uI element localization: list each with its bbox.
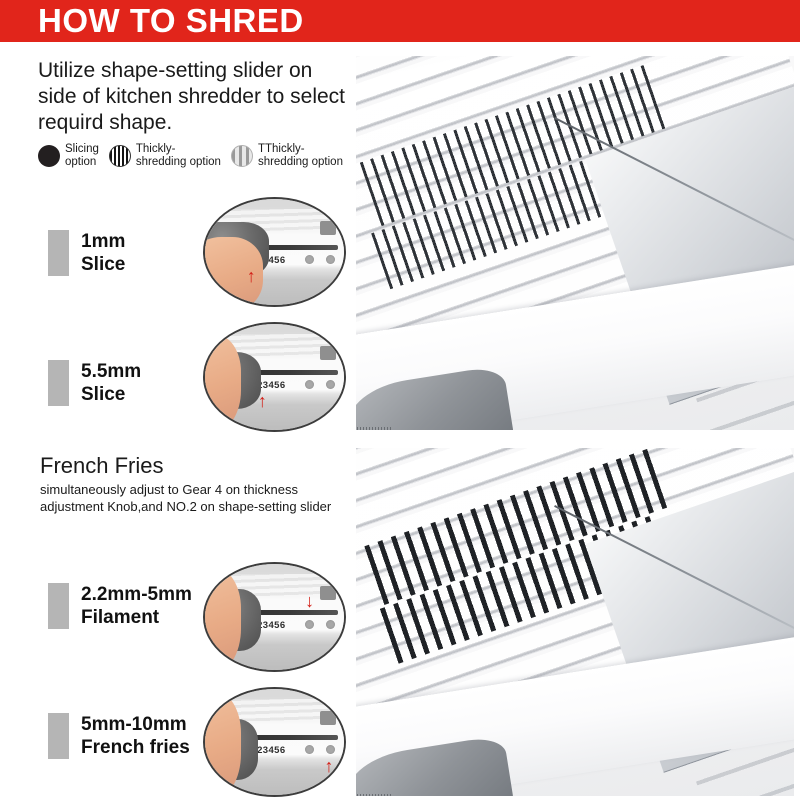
measure-label: 1mm Slice xyxy=(81,230,125,276)
legend-item-slicing: Slicing option xyxy=(38,143,99,168)
scale-numbers: 23456 xyxy=(257,620,285,631)
measure-size: 5.5mm xyxy=(81,361,141,382)
legend-line-1: Thickly- xyxy=(136,143,176,155)
corner-tab-icon xyxy=(320,221,336,235)
measure-size: 5mm-10mm xyxy=(81,714,187,735)
measure-swatch xyxy=(48,360,69,406)
infographic-page: HOW TO SHRED Utilize shape-setting slide… xyxy=(0,0,800,800)
corner-tab-icon xyxy=(320,586,336,600)
corner-tab-icon xyxy=(320,346,336,360)
measure-row: 2.2mm-5mm Filament xyxy=(48,583,192,629)
thick-striped-circle-icon xyxy=(231,145,253,167)
slider-inset-5.5mm-slice: 23456 ↑ xyxy=(203,322,346,432)
measure-row: 1mm Slice xyxy=(48,230,125,276)
measure-row: 5mm-10mm French fries xyxy=(48,713,190,759)
grip-texture-lines xyxy=(356,794,393,796)
measure-swatch xyxy=(48,713,69,759)
french-fries-heading: French Fries xyxy=(40,452,163,479)
measure-shape: Slice xyxy=(81,254,125,275)
legend-line-2: shredding option xyxy=(136,156,221,168)
legend-item-tthickly-shredding: TThickly- shredding option xyxy=(231,143,343,168)
measure-label: 5.5mm Slice xyxy=(81,360,141,406)
thin-striped-circle-icon xyxy=(109,145,131,167)
legend-line-2: shredding option xyxy=(258,156,343,168)
measure-swatch xyxy=(48,230,69,276)
measure-shape: Slice xyxy=(81,384,125,405)
slicer-render xyxy=(356,56,794,430)
slider-inset-1mm-slice: 23456 ↑ xyxy=(203,197,346,307)
page-title: HOW TO SHRED xyxy=(38,1,304,41)
intro-text: Utilize shape-setting slider on side of … xyxy=(38,58,348,136)
slider-inset-filament: 23456 ↓ xyxy=(203,562,346,672)
measure-size: 2.2mm-5mm xyxy=(81,584,192,605)
corner-tab-icon xyxy=(320,711,336,725)
measure-label: 2.2mm-5mm Filament xyxy=(81,583,192,629)
french-fries-subtext: simultaneously adjust to Gear 4 on thick… xyxy=(40,482,355,515)
measure-shape: French fries xyxy=(81,737,190,758)
legend-item-label: Thickly- shredding option xyxy=(136,143,221,168)
measure-row: 5.5mm Slice xyxy=(48,360,141,406)
solid-circle-icon xyxy=(38,145,60,167)
pointer-arrow-icon: ↑ xyxy=(258,392,267,410)
legend: Slicing option Thickly- shredding option… xyxy=(38,143,358,168)
slicer-render xyxy=(356,448,794,796)
measure-swatch xyxy=(48,583,69,629)
legend-item-thickly-shredding: Thickly- shredding option xyxy=(109,143,221,168)
legend-line-2: option xyxy=(65,156,96,168)
slider-inset-french-fries: 23456 ↑ xyxy=(203,687,346,797)
header-band: HOW TO SHRED xyxy=(0,0,800,42)
scale-numbers: 23456 xyxy=(257,380,285,391)
hand-photo xyxy=(203,691,241,797)
measure-size: 1mm xyxy=(81,231,125,252)
legend-item-label: TThickly- shredding option xyxy=(258,143,343,168)
measure-shape: Filament xyxy=(81,607,159,628)
grip-texture-lines xyxy=(356,427,393,430)
pointer-arrow-icon: ↑ xyxy=(325,757,334,775)
slicer-photo-french-fry-teeth xyxy=(356,448,794,796)
scale-numbers: 23456 xyxy=(257,745,285,756)
legend-line-1: TThickly- xyxy=(258,143,305,155)
legend-line-1: Slicing xyxy=(65,143,99,155)
legend-item-label: Slicing option xyxy=(65,143,99,168)
pointer-arrow-icon: ↓ xyxy=(305,592,314,610)
pointer-arrow-icon: ↑ xyxy=(247,267,256,285)
measure-label: 5mm-10mm French fries xyxy=(81,713,190,759)
slicer-photo-slicing-blade xyxy=(356,56,794,430)
